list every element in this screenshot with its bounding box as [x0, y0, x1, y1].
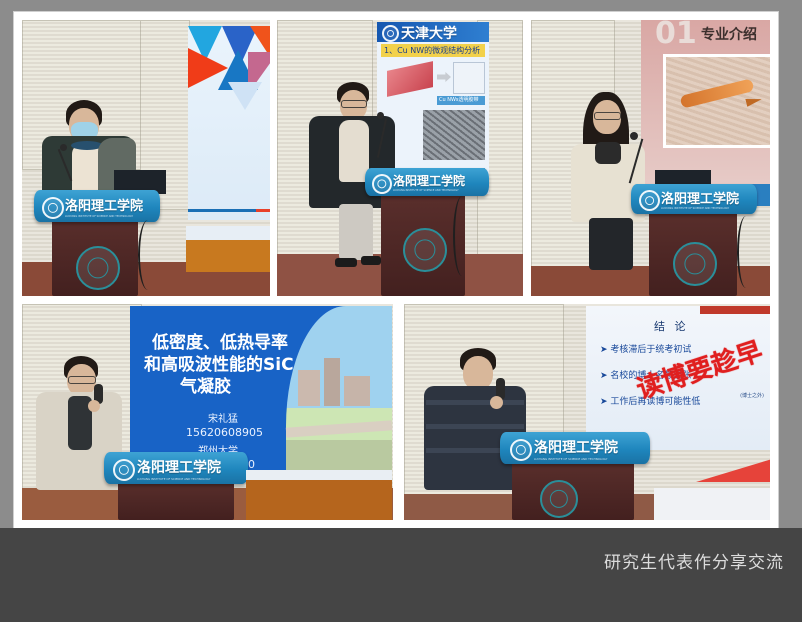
slide-inset	[453, 62, 485, 94]
bullet-marker: ➤	[600, 371, 608, 381]
podium-name-en: LUOYANG INSTITUTE OF SCIENCE AND TECHNOL…	[534, 457, 618, 461]
slide-section-band: 1、Cu NW的微观结构分析	[381, 44, 485, 57]
projection-screen: 结 论 ➤ 考核滞后于统考初试 ➤ 名校的博士名额紧张 ➤ 工作后再读博可能性低…	[586, 306, 770, 450]
slide-diagram-a	[387, 61, 433, 97]
podium-seal-icon	[510, 439, 532, 461]
slide-presenter: 宋礼猛	[208, 410, 238, 425]
microphone-head	[377, 112, 384, 119]
photo-collage-frame: 洛阳理工学院 LUOYANG INSTITUTE OF SCIENCE AND …	[14, 12, 778, 528]
audio-cable	[138, 220, 158, 290]
eyeglasses	[68, 376, 96, 384]
podium-seal-icon	[639, 190, 660, 211]
front-table	[654, 488, 770, 520]
podium-name-cn: 洛阳理工学院	[393, 172, 465, 189]
speaker-hand	[490, 396, 503, 409]
side-table-body	[186, 240, 270, 272]
speaker-hand	[88, 400, 100, 412]
photo-grid: 洛阳理工学院 LUOYANG INSTITUTE OF SCIENCE AND …	[22, 20, 770, 520]
institution-emblem	[76, 246, 120, 290]
slide-phone: 15620608905	[186, 426, 263, 439]
screen-accent-line	[256, 209, 270, 212]
speaker-trousers	[339, 204, 373, 260]
slide-title-text: 专业介绍	[701, 24, 757, 44]
podium-seal-icon	[372, 174, 392, 194]
jacket-seam	[426, 400, 524, 405]
slide-number: 01	[655, 20, 697, 51]
slide-section-title: 1、Cu NW的微观结构分析	[384, 45, 480, 56]
tri	[228, 82, 262, 110]
slide-arrow-icon	[437, 72, 451, 82]
bullet-marker: ➤	[600, 345, 608, 355]
slide-photo-frame	[663, 54, 770, 148]
speaker-scarf	[595, 142, 621, 164]
podium-name-en: LUOYANG INSTITUTE OF SCIENCE AND TECHNOL…	[393, 189, 465, 192]
microphone-head	[630, 132, 638, 140]
slide-bullet-1: ➤ 考核滞后于统考初试	[600, 342, 691, 355]
photo-top-left: 洛阳理工学院 LUOYANG INSTITUTE OF SCIENCE AND …	[22, 20, 270, 296]
podium-seal-icon	[42, 197, 64, 219]
audio-cable	[737, 216, 755, 288]
photo-bottom-left: 低密度、低热导率 和高吸波性能的SiC 气凝胶 宋礼猛 15620608905 …	[22, 304, 393, 520]
podium-name-en: LUOYANG INSTITUTE OF SCIENCE AND TECHNOL…	[65, 215, 143, 218]
caption-band	[0, 528, 802, 622]
slide-side-note: (博士之外)	[740, 392, 764, 399]
campus-tower	[324, 358, 340, 406]
speaker-shoe	[361, 256, 381, 265]
speaker-head	[463, 356, 493, 390]
university-seal-icon	[382, 25, 399, 42]
slide-sem-image	[423, 110, 485, 160]
bullet-marker: ➤	[600, 397, 608, 407]
photo-top-right: 01 专业介绍	[531, 20, 770, 296]
institution-emblem	[673, 242, 717, 286]
speaker-trousers	[589, 218, 633, 270]
screenshot-root: 洛阳理工学院 LUOYANG INSTITUTE OF SCIENCE AND …	[0, 0, 802, 622]
podium-name-en: LUOYANG INSTITUTE OF SCIENCE AND TECHNOL…	[661, 207, 739, 210]
slide-title-line-3: 气凝胶	[180, 372, 231, 397]
eyeglasses	[341, 100, 367, 108]
podium-seal-icon	[113, 459, 135, 481]
stage-desk	[246, 478, 392, 520]
speaker-hoodie	[339, 120, 369, 182]
slide-label-chip: Cu NWs透明胶带	[437, 96, 485, 105]
podium-nameplate: 洛阳理工学院 LUOYANG INSTITUTE OF SCIENCE AND …	[365, 168, 489, 196]
podium-name-cn: 洛阳理工学院	[661, 188, 739, 207]
podium-nameplate: 洛阳理工学院 LUOYANG INSTITUTE OF SCIENCE AND …	[34, 190, 160, 222]
slide-header-bar: 天津大学	[377, 22, 489, 42]
podium-body	[118, 480, 234, 520]
podium-name-cn: 洛阳理工学院	[65, 195, 143, 214]
podium-name-cn: 洛阳理工学院	[534, 437, 618, 457]
photo-top-center: 天津大学 1、Cu NW的微观结构分析 Cu NWs透明胶带 Cu NWs SE…	[277, 20, 523, 296]
campus-building	[298, 370, 320, 406]
slide-label-text: Cu NWs透明胶带	[437, 96, 485, 103]
bullet-text: 考核滞后于统考初试	[610, 345, 691, 355]
slide-university-name: 天津大学	[401, 23, 457, 43]
podium-name-en: LUOYANG INSTITUTE OF SCIENCE AND TECHNOL…	[137, 477, 221, 481]
jacket-seam	[426, 424, 524, 429]
projection-screen	[188, 26, 270, 220]
podium-nameplate: 洛阳理工学院 LUOYANG INSTITUTE OF SCIENCE AND …	[104, 452, 248, 484]
institution-emblem	[540, 480, 578, 518]
podium-name-cn: 洛阳理工学院	[137, 457, 221, 477]
slide-top-accent	[700, 306, 770, 314]
speaker-shoe	[335, 258, 357, 267]
photo-bottom-right: 结 论 ➤ 考核滞后于统考初试 ➤ 名校的博士名额紧张 ➤ 工作后再读博可能性低…	[404, 304, 770, 520]
podium-nameplate: 洛阳理工学院 LUOYANG INSTITUTE OF SCIENCE AND …	[500, 432, 650, 464]
microphone-head	[60, 144, 67, 151]
stage-desk-top	[246, 470, 392, 480]
podium-nameplate: 洛阳理工学院 LUOYANG INSTITUTE OF SCIENCE AND …	[631, 184, 757, 214]
campus-path	[286, 420, 392, 437]
institution-emblem	[403, 228, 447, 272]
collage-caption: 研究生代表作分享交流	[604, 548, 784, 573]
audio-cable	[453, 196, 471, 276]
slide-campus-photo	[286, 306, 392, 482]
eyeglasses	[594, 112, 621, 120]
campus-building	[344, 376, 370, 406]
slide-conclusion-title: 结 论	[654, 318, 689, 334]
